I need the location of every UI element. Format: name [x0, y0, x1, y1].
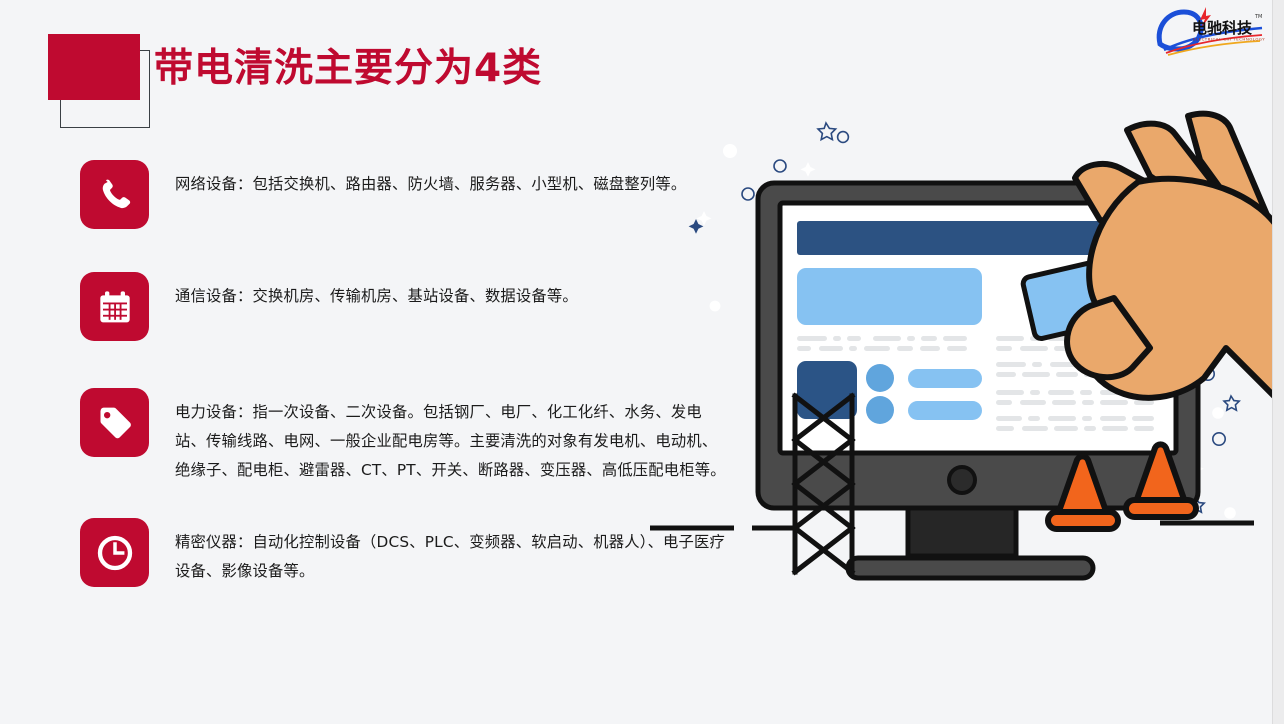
company-logo: 电驰科技 ELECTRICAL CHI TECHNOLOGY TM [1154, 4, 1266, 56]
screen-hero-block [797, 268, 982, 325]
title-filled-square [48, 34, 140, 100]
tag-icon [80, 388, 149, 457]
screen-avatar-circle [866, 364, 894, 392]
screen-avatar-block [797, 361, 857, 419]
screen-avatar-circle [866, 396, 894, 424]
calendar-icon [80, 272, 149, 341]
phone-icon [80, 160, 149, 229]
page-title: 带电清洗主要分为4类 [154, 37, 542, 93]
svg-text:TM: TM [1254, 14, 1262, 20]
svg-text:电驰科技: 电驰科技 [1192, 19, 1253, 37]
clock-icon [80, 518, 149, 587]
scrollbar-track[interactable] [1272, 0, 1284, 724]
svg-text:ELECTRICAL CHI TECHNOLOGY: ELECTRICAL CHI TECHNOLOGY [1193, 37, 1265, 42]
illustration [630, 110, 1284, 590]
decor-plus [689, 219, 704, 234]
slide-root: 电驰科技 ELECTRICAL CHI TECHNOLOGY TM 带电清洗主要… [0, 0, 1284, 724]
